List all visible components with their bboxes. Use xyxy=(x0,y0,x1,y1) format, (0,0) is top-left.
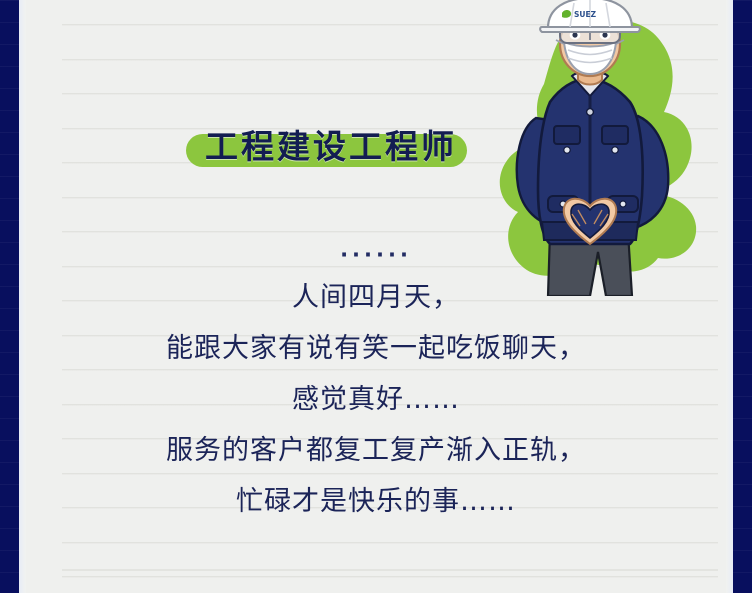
headline: 工程建设工程师 xyxy=(176,118,486,176)
left-border-highlight xyxy=(19,0,26,593)
copy-line-1: 人间四月天， xyxy=(34,272,718,323)
headline-title: 工程建设工程师 xyxy=(176,118,486,176)
rule-line xyxy=(62,542,718,544)
svg-text:SUEZ: SUEZ xyxy=(574,10,597,19)
right-border-highlight xyxy=(726,0,733,593)
bottom-divider xyxy=(62,569,718,571)
hard-hat: SUEZ xyxy=(540,0,640,32)
poster-canvas: SUEZ 工程建设工程师 ······ 人间四月天， 能跟大家有说有笑一起吃饭聊… xyxy=(0,0,752,593)
leading-ellipsis: ······ xyxy=(34,238,718,272)
copy-line-5: 忙碌才是快乐的事…… xyxy=(34,476,718,527)
rule-line xyxy=(62,576,718,578)
copy-line-2: 能跟大家有说有笑一起吃饭聊天， xyxy=(34,323,718,374)
body-copy: ······ 人间四月天， 能跟大家有说有笑一起吃饭聊天， 感觉真好…… 服务的… xyxy=(34,238,718,527)
copy-line-3: 感觉真好…… xyxy=(34,374,718,425)
left-border-strip xyxy=(0,0,19,593)
copy-line-4: 服务的客户都复工复产渐入正轨， xyxy=(34,425,718,476)
right-border-strip xyxy=(733,0,752,593)
